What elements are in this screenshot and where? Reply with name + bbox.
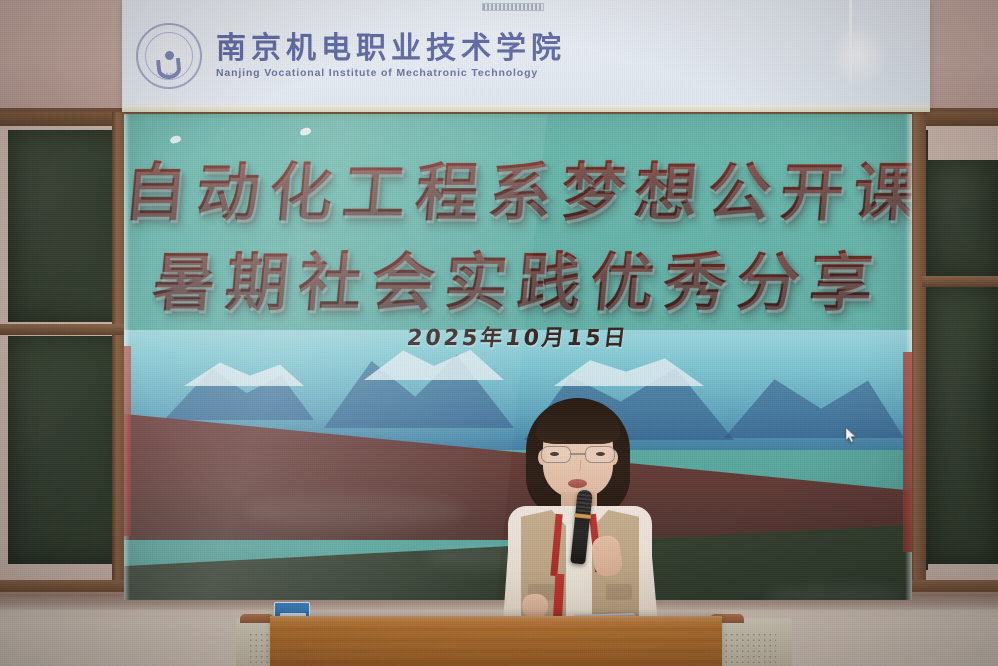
mountain-peak-4 [724, 368, 904, 438]
blackboard-frame-right [910, 112, 926, 596]
presenter-eyebrow-right [589, 440, 611, 443]
mouse-cursor-icon [846, 428, 857, 443]
vest-pocket-right [606, 584, 632, 600]
screen-glare [828, 22, 888, 86]
blackboard-divider-left [0, 324, 128, 335]
chalk-smudge-3 [764, 584, 904, 600]
chalk-smudge-2 [244, 494, 464, 528]
chalkboard-panel-left-lower [8, 336, 128, 564]
chalkboard-panel-left-upper [8, 130, 128, 322]
school-name-english: Nanjing Vocational Institute of Mechatro… [216, 67, 566, 79]
snow-cap-3 [554, 356, 704, 386]
snow-cap-1 [184, 360, 304, 386]
blackboard-divider-right [922, 276, 998, 287]
presenter-hand-left [522, 594, 548, 618]
chalkboard-panel-right-upper [928, 160, 998, 278]
speaker-grille-right [718, 632, 776, 664]
seal-year: 1978 [138, 73, 200, 79]
presenter [488, 398, 668, 623]
banner-red-edge-right [903, 352, 912, 552]
presenter-mouth [568, 479, 587, 488]
classroom-photo-scene: 自动化工程系梦想公开课 暑期社会实践优秀分享 2025年10月15日 1978 … [0, 0, 998, 666]
banner-red-edge-left [124, 346, 131, 536]
projector-screen: 1978 南京机电职业技术学院 Nanjing Vocational Insti… [122, 0, 930, 112]
presenter-nose [574, 460, 581, 472]
presenter-eyebrow-left [544, 440, 566, 443]
banner-title-line-2: 暑期社会实践优秀分享 [124, 232, 912, 323]
chalkboard-panel-right-lower [928, 286, 998, 564]
banner-date: 2025年10月15日 [124, 320, 912, 352]
presenter-hair-front [536, 400, 620, 444]
banner-title-line-1: 自动化工程系梦想公开课 [124, 142, 912, 233]
screen-mount-clip [482, 3, 544, 11]
school-seal-logo-icon: 1978 [136, 23, 202, 89]
wooden-podium [270, 616, 722, 666]
school-name-chinese: 南京机电职业技术学院 [216, 33, 566, 65]
snow-cap-2 [364, 348, 504, 380]
